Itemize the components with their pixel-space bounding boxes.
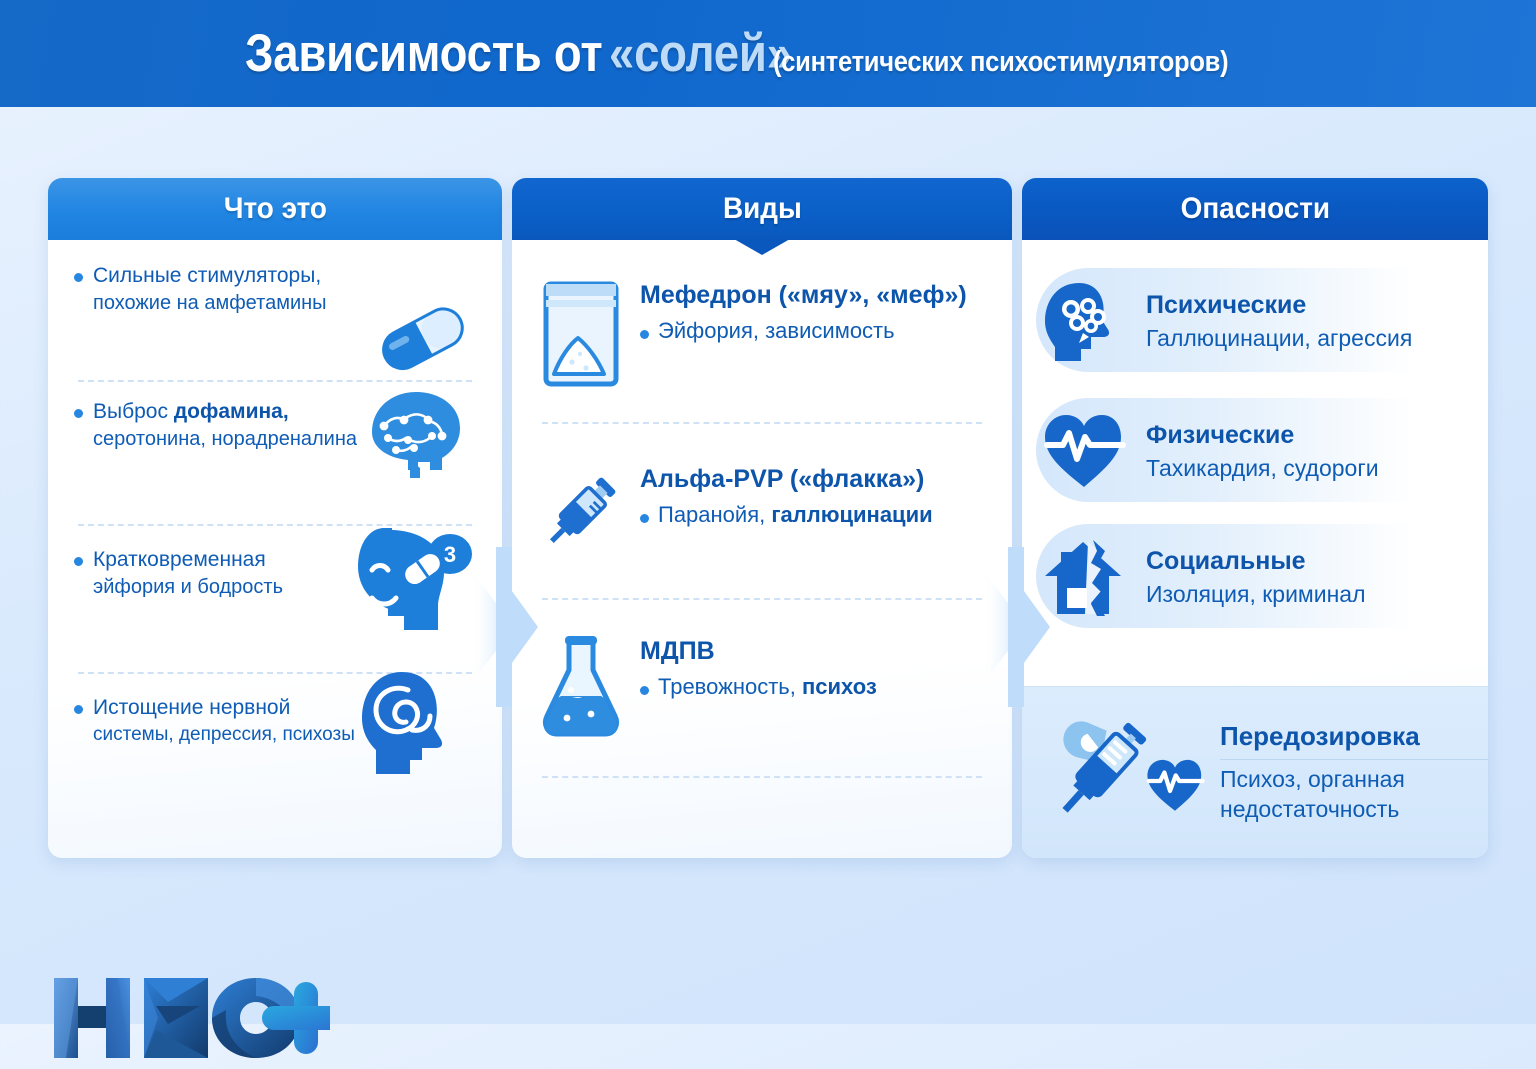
page-title-subtitle: (синтетических психостимуляторов): [773, 46, 1228, 79]
list-item-line1: Кратковременная: [93, 546, 266, 574]
type-effect-bold: психоз: [802, 674, 877, 699]
page-banner: Зависимость от «солей» (синтетических пс…: [0, 0, 1536, 107]
pill-capsule-icon: [374, 298, 470, 381]
list-item: Сильные стимуляторы, похожие на амфетами…: [74, 262, 476, 380]
bullet-dot: [640, 330, 649, 339]
column-types: Виды Мефедрон («мя: [512, 178, 1012, 858]
list-item-line1-bold: дофамина,: [174, 400, 289, 423]
type-effect: Тревожность, психоз: [640, 674, 877, 700]
overdose-rule: [1220, 759, 1488, 760]
bullet-dot: [640, 686, 649, 695]
danger-desc: Тахикардия, судороги: [1146, 454, 1379, 484]
list-item: Истощение нервной системы, депрессия, пс…: [74, 674, 476, 794]
column-header-dangers: Опасности: [1022, 178, 1488, 240]
page-title: Зависимость от «солей» (синтетических пс…: [245, 23, 1291, 84]
overdose-block: Передозировка Психоз, органная недостато…: [1022, 686, 1488, 858]
item-divider: [542, 598, 982, 600]
danger-title: Физические: [1146, 420, 1379, 451]
page-title-quoted: «солей»: [609, 23, 792, 84]
happy-head-pill-icon: 3: [350, 522, 472, 643]
logo-letter-n: [54, 978, 130, 1058]
flow-arrow-1: [470, 547, 546, 707]
page-title-main: Зависимость от: [245, 23, 602, 84]
bullet-dot: [640, 514, 649, 523]
list-item: Мефедрон («мяу», «меф») Эйфория, зависим…: [538, 274, 986, 388]
column-header-title: Виды: [723, 192, 802, 226]
list-item: МДПВ Тревожность, психоз: [538, 630, 986, 740]
infographic-stage: Что это Сильные стимуляторы, похожие на …: [0, 107, 1536, 1024]
overdose-desc-line2: недостаточность: [1220, 794, 1488, 824]
type-effect-plain: Эйфория, зависимость: [658, 318, 895, 343]
type-effect-bold: галлюцинации: [771, 502, 932, 527]
danger-desc: Изоляция, криминал: [1146, 580, 1366, 610]
list-item-line1: Истощение нервной: [93, 694, 290, 722]
overdose-desc-line1: Психоз, органная: [1220, 764, 1488, 794]
column-body-what-is-it: Сильные стимуляторы, похожие на амфетами…: [48, 240, 502, 858]
column-what-is-it: Что это Сильные стимуляторы, похожие на …: [48, 178, 502, 858]
heart-pulse-icon: [1038, 406, 1130, 498]
column-body-dangers: Психические Галлюцинации, агрессия Физич…: [1022, 240, 1488, 858]
item-divider: [542, 422, 982, 424]
column-header-types: Виды: [512, 178, 1012, 240]
syringe-icon: [538, 458, 624, 562]
column-header-title: Опасности: [1180, 192, 1329, 226]
list-item-line1: Сильные стимуляторы,: [93, 262, 321, 290]
heart-pulse-small-icon: [1144, 757, 1206, 815]
logo-letter-e: [144, 978, 208, 1058]
type-effect-plain: Паранойя,: [658, 502, 771, 527]
list-item: Психические Галлюцинации, агрессия: [1038, 266, 1468, 378]
bullet-dot: [74, 705, 83, 714]
list-item: Кратковременная эйфория и бодрость 3: [74, 526, 476, 660]
type-title: МДПВ: [640, 636, 877, 666]
item-divider: [542, 776, 982, 778]
powder-bag-icon: [538, 274, 624, 388]
brain-network-icon: [352, 380, 470, 489]
flask-icon: [538, 630, 624, 740]
type-effect-plain: Тревожность,: [658, 674, 802, 699]
column-body-types: Мефедрон («мяу», «меф») Эйфория, зависим…: [512, 240, 1012, 858]
type-title: Мефедрон («мяу», «меф»): [640, 280, 967, 310]
bullet-dot: [74, 409, 83, 418]
list-item: Выброс дофамина, серотонина, норадренали…: [74, 382, 476, 510]
column-header-title: Что это: [223, 192, 326, 226]
logo-neo-plus[interactable]: [48, 972, 330, 1069]
column-dangers: Опасности: [1022, 178, 1488, 858]
tangled-brain-head-icon: [360, 668, 476, 783]
danger-desc: Галлюцинации, агрессия: [1146, 324, 1412, 354]
type-title: Альфа-PVP («флакка»): [640, 464, 933, 494]
column-header-what-is-it: Что это: [48, 178, 502, 240]
list-item: Социальные Изоляция, криминал: [1038, 522, 1468, 634]
flow-arrow-2: [982, 547, 1058, 707]
danger-title: Социальные: [1146, 546, 1366, 577]
overdose-title: Передозировка: [1220, 721, 1488, 752]
list-item-line1: Выброс: [93, 400, 174, 423]
overdose-icons: [1036, 708, 1206, 838]
head-thought-bubbles-icon: [1038, 276, 1130, 368]
bullet-dot: [74, 273, 83, 282]
list-item: Альфа-PVP («флакка») Паранойя, галлюцина…: [538, 458, 986, 562]
danger-title: Психические: [1146, 290, 1412, 321]
type-effect: Эйфория, зависимость: [640, 318, 967, 344]
type-effect: Паранойя, галлюцинации: [640, 502, 933, 528]
bullet-dot: [74, 557, 83, 566]
svg-text:3: 3: [444, 542, 456, 567]
list-item: Физические Тахикардия, судороги: [1038, 396, 1468, 508]
